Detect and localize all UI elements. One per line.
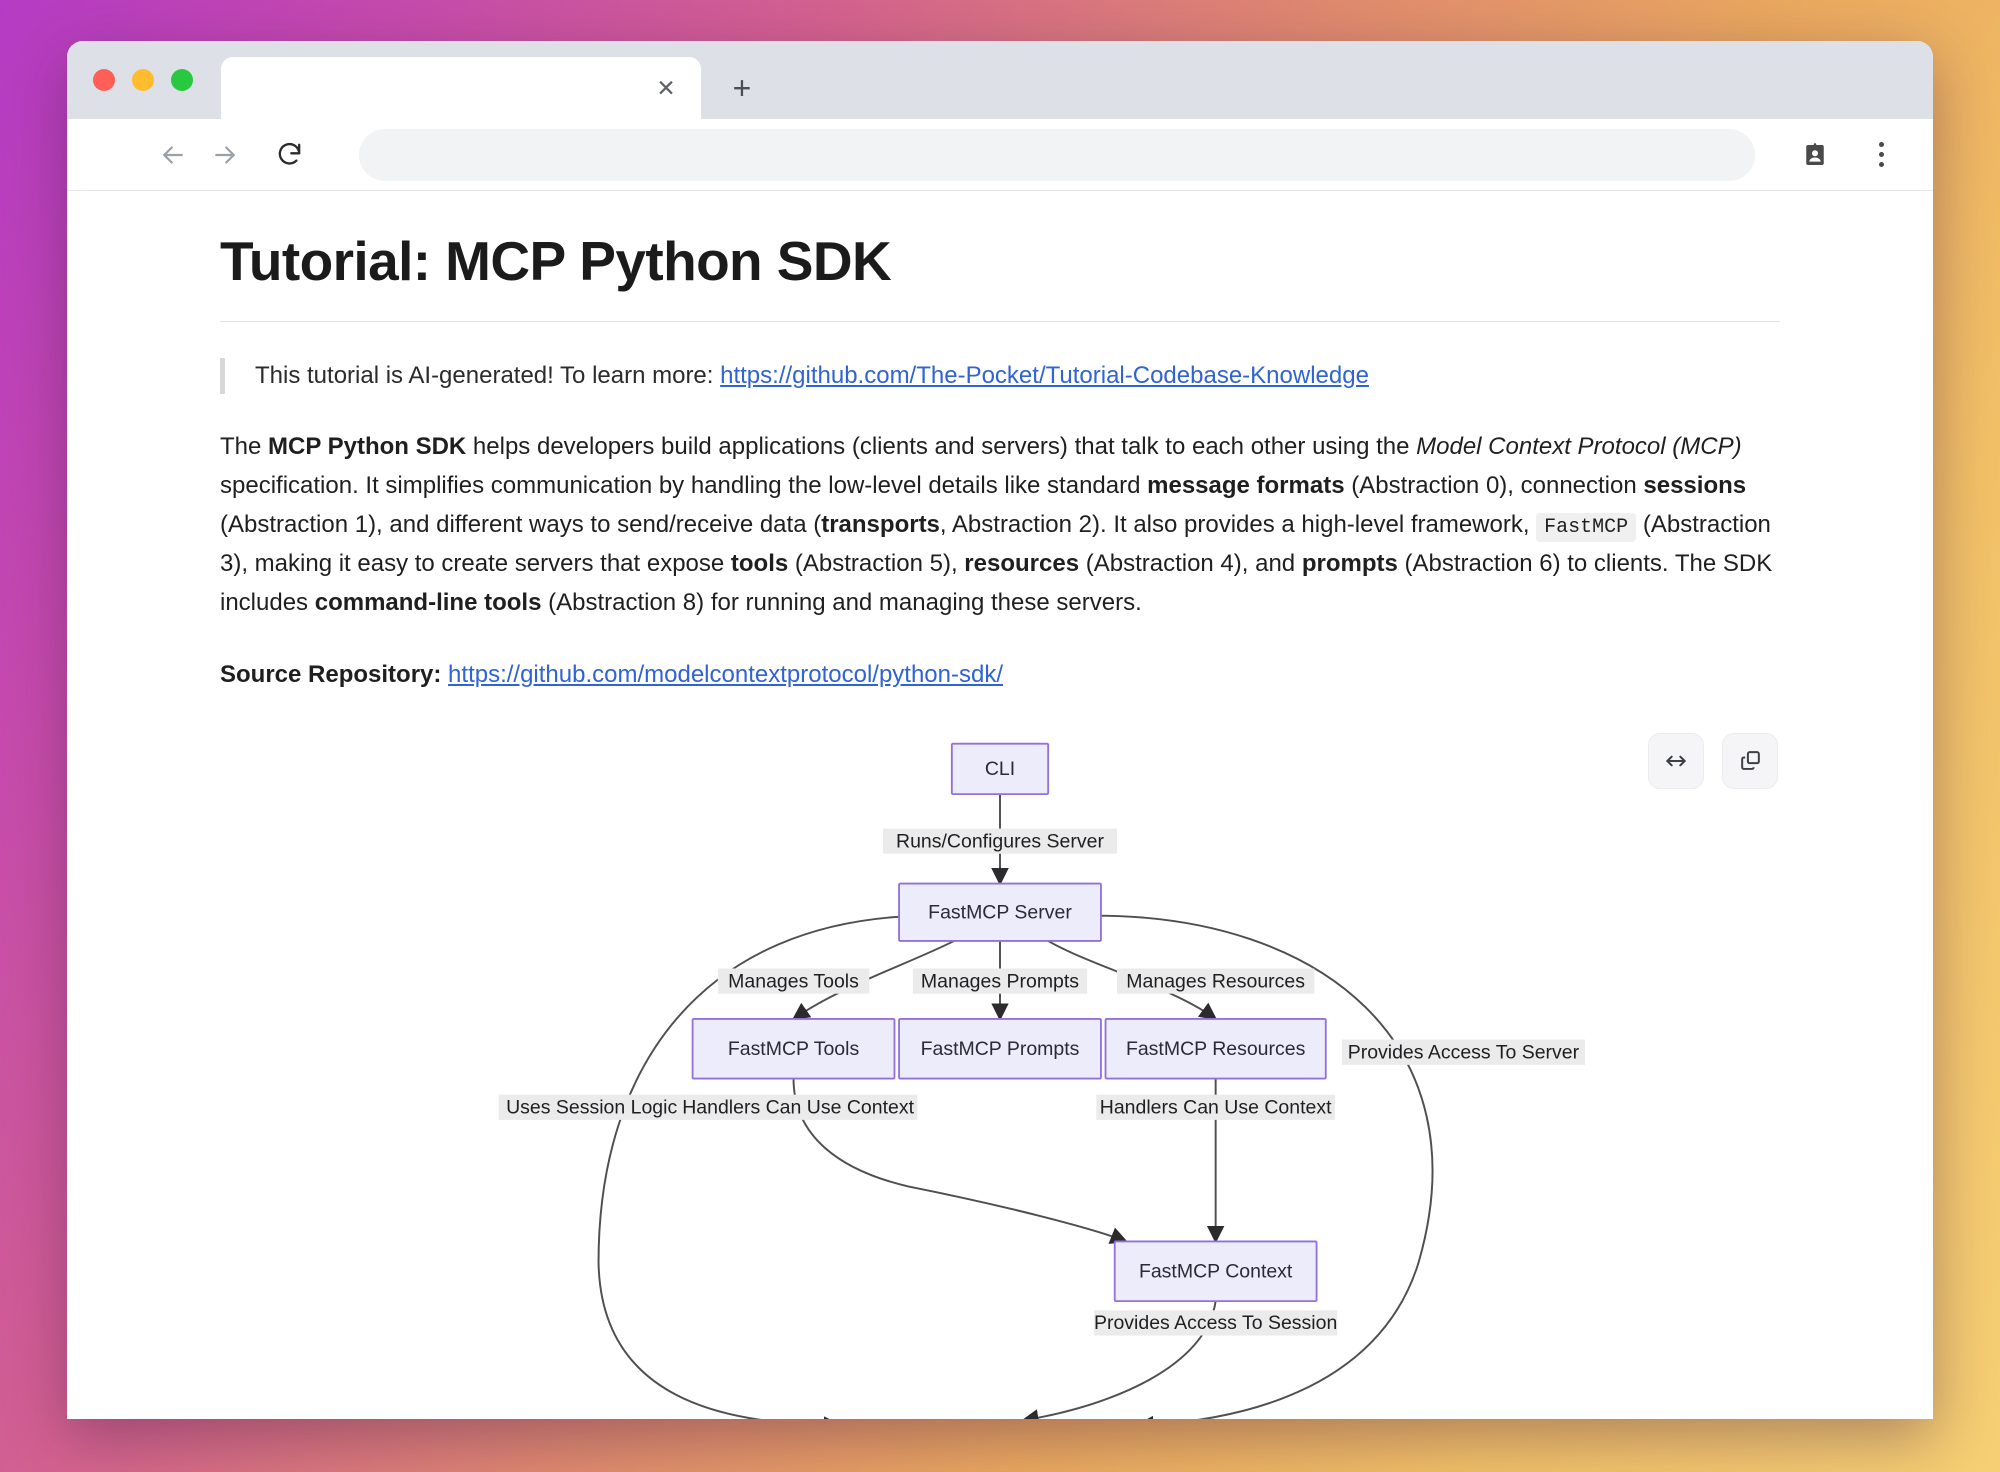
back-arrow-icon[interactable]	[147, 129, 199, 181]
minimize-window-button[interactable]	[132, 69, 154, 91]
intro-b8: command-line tools	[315, 589, 542, 616]
node-fastmcp-tools-label: FastMCP Tools	[728, 1038, 860, 1060]
intro-b6: resources	[964, 550, 1079, 577]
intro-b5: tools	[731, 550, 788, 577]
edge-label-manages-prompts: Manages Prompts	[913, 968, 1087, 993]
node-fastmcp-tools[interactable]: FastMCP Tools	[693, 1019, 895, 1079]
svg-text:Provides Access To Session: Provides Access To Session	[1094, 1312, 1337, 1334]
node-fastmcp-context[interactable]: FastMCP Context	[1115, 1241, 1317, 1301]
close-tab-icon[interactable]: ✕	[649, 71, 683, 105]
intro-i1: Model Context Protocol (MCP)	[1416, 433, 1741, 460]
intro-b1: MCP Python SDK	[268, 433, 466, 460]
node-fastmcp-prompts-label: FastMCP Prompts	[921, 1038, 1080, 1060]
svg-text:Manages Tools: Manages Tools	[728, 970, 859, 992]
node-fastmcp-server-label: FastMCP Server	[928, 901, 1072, 923]
intro-b3: sessions	[1643, 472, 1746, 499]
intro-s6: , Abstraction 2). It also provides a hig…	[940, 511, 1536, 538]
tab-strip: ✕ +	[67, 41, 1933, 119]
intro-s8: (Abstraction 5),	[788, 550, 964, 577]
intro-s9: (Abstraction 4), and	[1079, 550, 1302, 577]
intro-s11: (Abstraction 8) for running and managing…	[541, 589, 1141, 616]
node-fastmcp-prompts[interactable]: FastMCP Prompts	[899, 1019, 1101, 1079]
close-window-button[interactable]	[93, 69, 115, 91]
intro-s1: The	[220, 433, 268, 460]
browser-window: ✕ +	[67, 41, 1933, 1419]
page-title: Tutorial: MCP Python SDK	[220, 191, 1780, 322]
svg-text:Provides Access To Server: Provides Access To Server	[1348, 1041, 1580, 1063]
edge-label-uses-session-logic: Uses Session Logic	[499, 1094, 685, 1119]
inline-code-fastmcp: FastMCP	[1536, 513, 1636, 542]
profile-badge-icon[interactable]	[1789, 129, 1841, 181]
node-cli[interactable]: CLI	[952, 743, 1048, 793]
intro-paragraph: The MCP Python SDK helps developers buil…	[220, 428, 1780, 622]
forward-arrow-icon[interactable]	[199, 129, 251, 181]
node-cli-label: CLI	[985, 758, 1015, 780]
node-fastmcp-resources-label: FastMCP Resources	[1126, 1038, 1306, 1060]
maximize-window-button[interactable]	[171, 69, 193, 91]
edge-label-runs-configures: Runs/Configures Server	[883, 828, 1117, 853]
reload-icon[interactable]	[263, 129, 315, 181]
resize-horizontal-icon[interactable]	[1648, 733, 1704, 789]
architecture-flowchart: CLI FastMCP Server FastMCP Tools FastMCP…	[220, 723, 1780, 1419]
edge-label-manages-tools: Manages Tools	[718, 968, 869, 993]
edge-label-provides-access-to-session: Provides Access To Session	[1094, 1310, 1337, 1335]
browser-tab[interactable]: ✕	[221, 57, 701, 119]
edge-label-handlers-can-use-context-right: Handlers Can Use Context	[1096, 1094, 1335, 1119]
source-repository-label: Source Repository:	[220, 661, 448, 688]
svg-text:Uses Session Logic: Uses Session Logic	[506, 1096, 677, 1118]
source-repository-link[interactable]: https://github.com/modelcontextprotocol/…	[448, 661, 1003, 688]
note-text: This tutorial is AI-generated! To learn …	[255, 362, 720, 389]
intro-s2: helps developers build applications (cli…	[466, 433, 1416, 460]
intro-s3: specification. It simplifies communicati…	[220, 472, 1147, 499]
edge-label-provides-access-to-server: Provides Access To Server	[1342, 1039, 1585, 1064]
svg-text:Manages Prompts: Manages Prompts	[921, 970, 1079, 992]
copy-icon[interactable]	[1722, 733, 1778, 789]
window-traffic-lights	[93, 41, 221, 119]
source-repository-line: Source Repository: https://github.com/mo…	[220, 656, 1780, 694]
svg-text:Handlers Can Use Context: Handlers Can Use Context	[682, 1096, 914, 1118]
diagram-toolbar	[1648, 733, 1778, 789]
new-tab-button[interactable]: +	[719, 65, 765, 111]
svg-text:Runs/Configures Server: Runs/Configures Server	[896, 830, 1104, 852]
node-fastmcp-server[interactable]: FastMCP Server	[899, 883, 1101, 940]
address-bar[interactable]	[359, 129, 1755, 181]
edge-label-manages-resources: Manages Resources	[1117, 968, 1314, 993]
svg-text:Manages Resources: Manages Resources	[1126, 970, 1305, 992]
intro-b2: message formats	[1147, 472, 1344, 499]
svg-text:Handlers Can Use Context: Handlers Can Use Context	[1100, 1096, 1332, 1118]
kebab-menu-icon[interactable]	[1855, 129, 1907, 181]
note-link[interactable]: https://github.com/The-Pocket/Tutorial-C…	[720, 362, 1369, 389]
ai-generated-note: This tutorial is AI-generated! To learn …	[220, 358, 1780, 394]
node-fastmcp-context-label: FastMCP Context	[1139, 1260, 1293, 1282]
browser-toolbar	[67, 119, 1933, 191]
intro-b4: transports	[821, 511, 940, 538]
intro-b7: prompts	[1302, 550, 1398, 577]
intro-s5: (Abstraction 1), and different ways to s…	[220, 511, 821, 538]
page-content: Tutorial: MCP Python SDK This tutorial i…	[220, 191, 1780, 1419]
edge-label-handlers-can-use-context-left: Handlers Can Use Context	[679, 1094, 918, 1119]
page-viewport: Tutorial: MCP Python SDK This tutorial i…	[67, 191, 1933, 1419]
diagram-container: CLI FastMCP Server FastMCP Tools FastMCP…	[220, 723, 1780, 1419]
node-fastmcp-resources[interactable]: FastMCP Resources	[1106, 1019, 1326, 1079]
intro-s4: (Abstraction 0), connection	[1345, 472, 1644, 499]
